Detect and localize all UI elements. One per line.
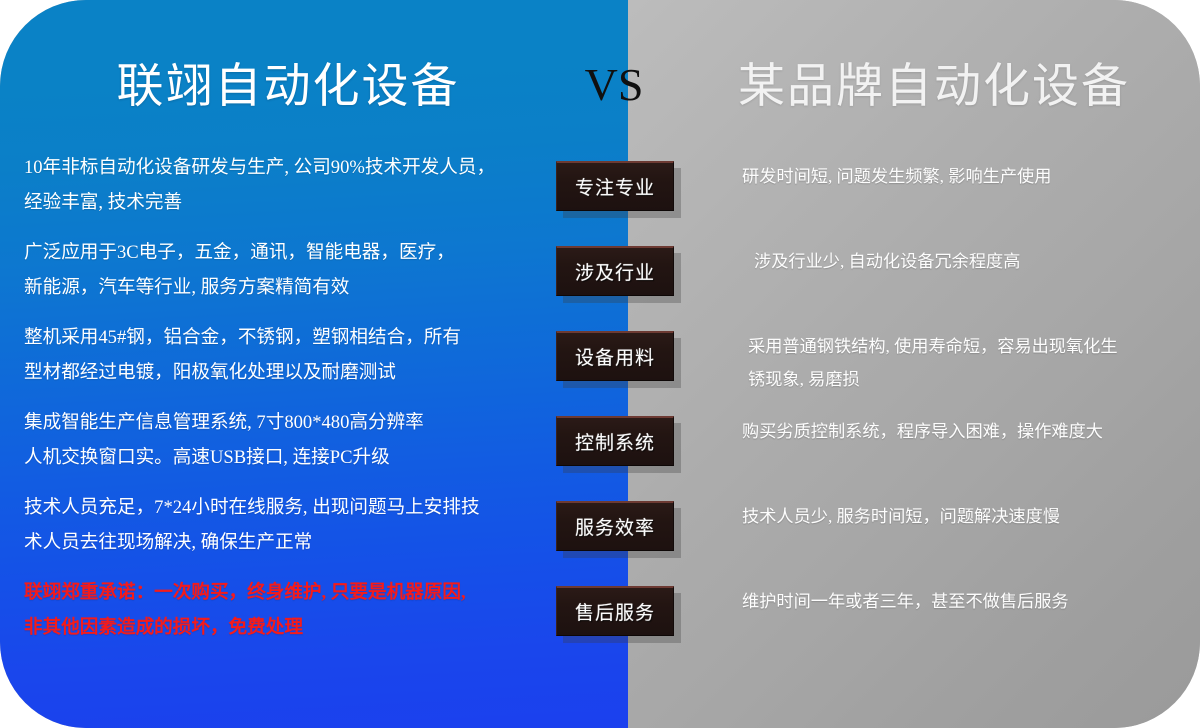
category-chip-label: 设备用料 (575, 343, 655, 370)
competitor-feature-text: 研发时间短, 问题发生频繁, 影响生产使用 (742, 160, 1192, 193)
comparison-row: 联翊郑重承诺：一次购买，终身维护, 只要是机器原因, 非其他因素造成的损坏，免费… (0, 575, 1200, 660)
competitor-feature-text: 采用普通钢铁结构, 使用寿命短，容易出现氧化生 锈现象, 易磨损 (748, 330, 1198, 396)
category-chip-label: 控制系统 (575, 428, 655, 455)
competitor-feature-text: 技术人员少, 服务时间短，问题解决速度慢 (742, 500, 1192, 533)
competitor-feature-text: 购买劣质控制系统，程序导入困难，操作难度大 (742, 415, 1192, 448)
category-chip-label: 专注专业 (575, 173, 655, 200)
brand-feature-text: 10年非标自动化设备研发与生产, 公司90%技术开发人员， 经验丰富, 技术完善 (24, 150, 524, 220)
category-chip[interactable]: 控制系统 (556, 416, 674, 466)
category-chip[interactable]: 服务效率 (556, 501, 674, 551)
comparison-row: 广泛应用于3C电子，五金，通讯，智能电器，医疗， 新能源，汽车等行业, 服务方案… (0, 235, 1200, 320)
comparison-rows: 10年非标自动化设备研发与生产, 公司90%技术开发人员， 经验丰富, 技术完善… (0, 0, 1200, 728)
brand-guarantee-line: 非其他因素造成的损坏，免费处理 (24, 610, 524, 645)
category-chip-label: 涉及行业 (575, 258, 655, 285)
comparison-row: 10年非标自动化设备研发与生产, 公司90%技术开发人员， 经验丰富, 技术完善… (0, 150, 1200, 235)
brand-feature-line: 新能源，汽车等行业, 服务方案精简有效 (24, 270, 524, 305)
comparison-row: 集成智能生产信息管理系统, 7寸800*480高分辨率 人机交换窗口实。高速US… (0, 405, 1200, 490)
category-chip[interactable]: 专注专业 (556, 161, 674, 211)
competitor-feature-line: 研发时间短, 问题发生频繁, 影响生产使用 (742, 160, 1192, 193)
competitor-feature-line: 购买劣质控制系统，程序导入困难，操作难度大 (742, 415, 1192, 448)
brand-feature-line: 经验丰富, 技术完善 (24, 185, 524, 220)
brand-feature-line: 整机采用45#钢，铝合金，不锈钢，塑钢相结合，所有 (24, 320, 524, 355)
brand-feature-line: 集成智能生产信息管理系统, 7寸800*480高分辨率 (24, 405, 524, 440)
brand-feature-text: 整机采用45#钢，铝合金，不锈钢，塑钢相结合，所有 型材都经过电镀，阳极氧化处理… (24, 320, 524, 390)
brand-feature-line: 人机交换窗口实。高速USB接口, 连接PC升级 (24, 440, 524, 475)
competitor-feature-line: 涉及行业少, 自动化设备冗余程度高 (754, 245, 1200, 278)
brand-feature-line: 技术人员充足，7*24小时在线服务, 出现问题马上安排技 (24, 490, 524, 525)
category-chip[interactable]: 设备用料 (556, 331, 674, 381)
brand-feature-text: 集成智能生产信息管理系统, 7寸800*480高分辨率 人机交换窗口实。高速US… (24, 405, 524, 475)
brand-feature-line: 型材都经过电镀，阳极氧化处理以及耐磨测试 (24, 355, 524, 390)
competitor-feature-text: 维护时间一年或者三年，甚至不做售后服务 (742, 585, 1192, 618)
brand-guarantee-text: 联翊郑重承诺：一次购买，终身维护, 只要是机器原因, 非其他因素造成的损坏，免费… (24, 575, 524, 645)
competitor-feature-line: 锈现象, 易磨损 (748, 363, 1198, 396)
comparison-row: 技术人员充足，7*24小时在线服务, 出现问题马上安排技 术人员去往现场解决, … (0, 490, 1200, 575)
comparison-row: 整机采用45#钢，铝合金，不锈钢，塑钢相结合，所有 型材都经过电镀，阳极氧化处理… (0, 320, 1200, 405)
brand-feature-line: 广泛应用于3C电子，五金，通讯，智能电器，医疗， (24, 235, 524, 270)
brand-feature-text: 广泛应用于3C电子，五金，通讯，智能电器，医疗， 新能源，汽车等行业, 服务方案… (24, 235, 524, 305)
category-chip[interactable]: 涉及行业 (556, 246, 674, 296)
category-chip[interactable]: 售后服务 (556, 586, 674, 636)
brand-feature-line: 术人员去往现场解决, 确保生产正常 (24, 525, 524, 560)
category-chip-label: 售后服务 (575, 598, 655, 625)
competitor-feature-text: 涉及行业少, 自动化设备冗余程度高 (754, 245, 1200, 278)
brand-feature-text: 技术人员充足，7*24小时在线服务, 出现问题马上安排技 术人员去往现场解决, … (24, 490, 524, 560)
competitor-feature-line: 维护时间一年或者三年，甚至不做售后服务 (742, 585, 1192, 618)
competitor-feature-line: 采用普通钢铁结构, 使用寿命短，容易出现氧化生 (748, 330, 1198, 363)
competitor-feature-line: 技术人员少, 服务时间短，问题解决速度慢 (742, 500, 1192, 533)
brand-guarantee-line: 联翊郑重承诺：一次购买，终身维护, 只要是机器原因, (24, 575, 524, 610)
category-chip-label: 服务效率 (575, 513, 655, 540)
comparison-poster: 联翊自动化设备 VS 某品牌自动化设备 10年非标自动化设备研发与生产, 公司9… (0, 0, 1200, 728)
brand-feature-line: 10年非标自动化设备研发与生产, 公司90%技术开发人员， (24, 150, 524, 185)
